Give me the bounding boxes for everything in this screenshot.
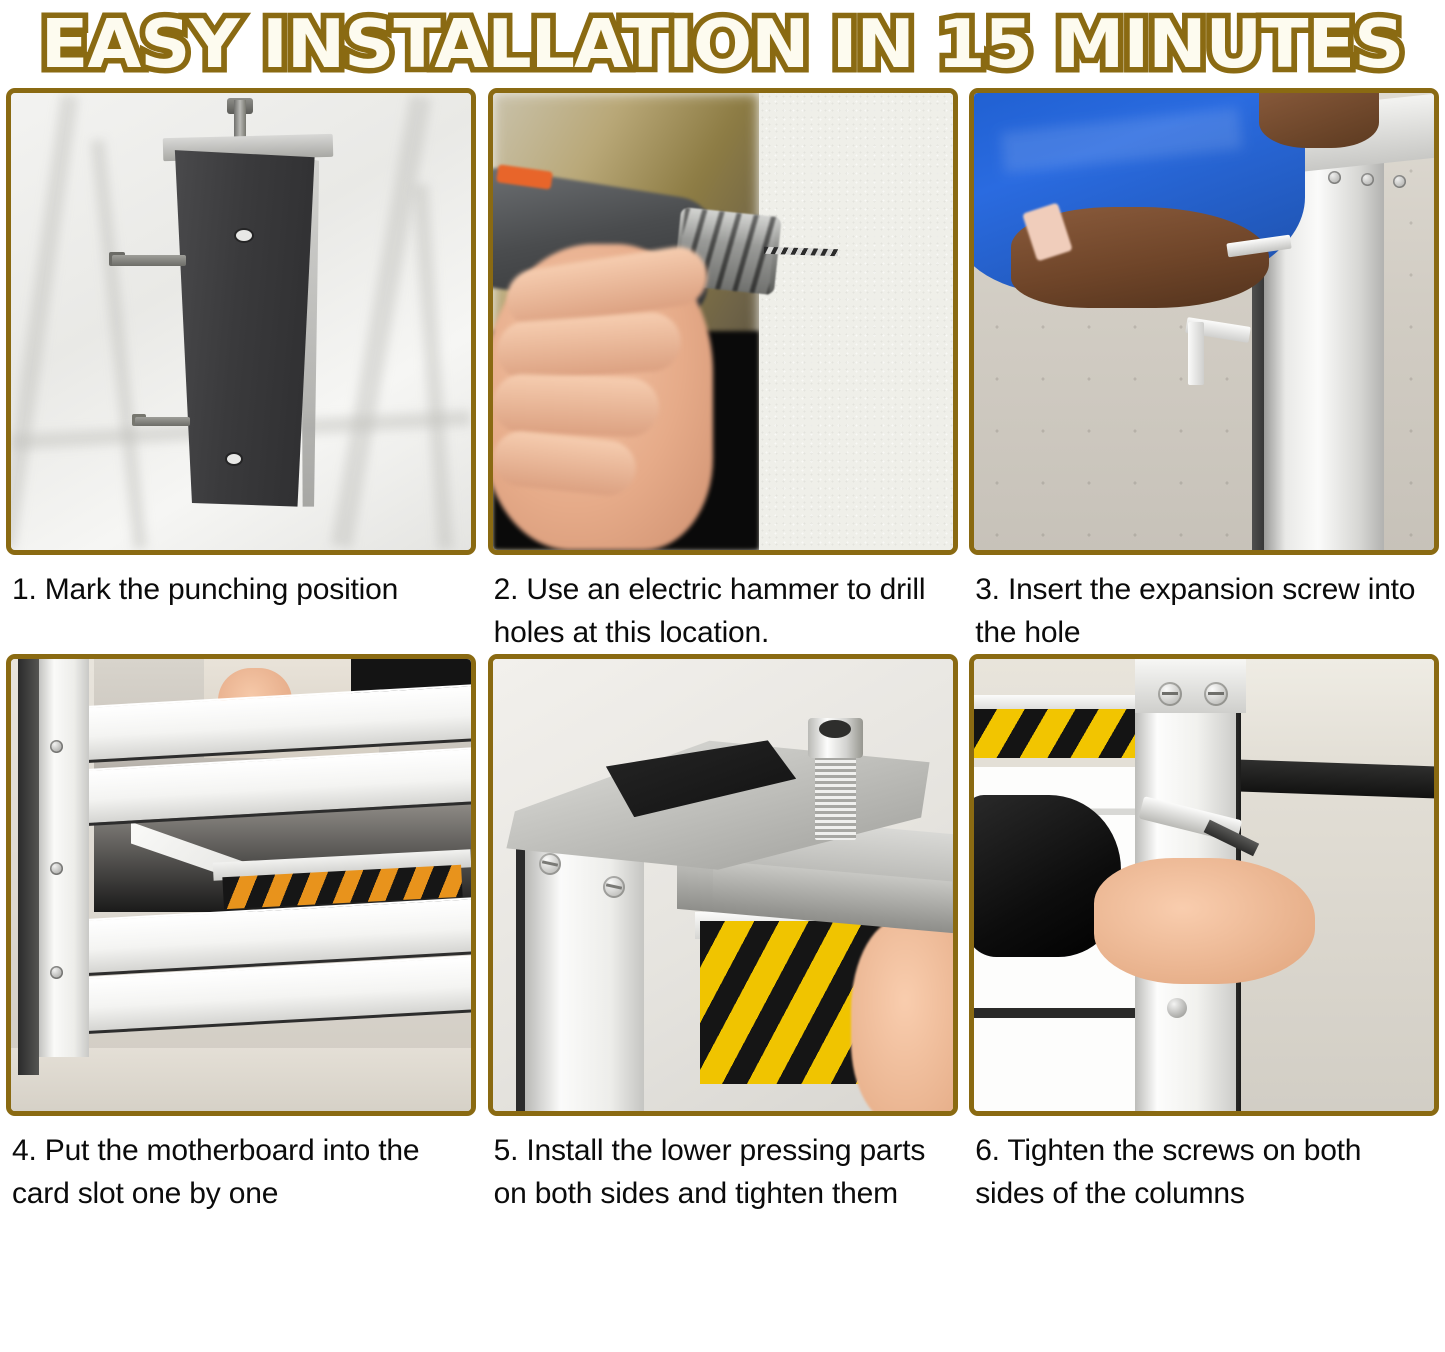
column-top-cap bbox=[1135, 659, 1245, 713]
hex-bolt-thread bbox=[815, 754, 856, 840]
step-photo-1 bbox=[11, 93, 471, 550]
step-photo-frame-1 bbox=[6, 88, 476, 555]
installation-steps-grid: 1. Mark the punching position bbox=[0, 88, 1445, 1215]
textured-wall bbox=[759, 93, 952, 550]
step-card-2: 2. Use an electric hammer to drill holes… bbox=[482, 88, 964, 654]
column-shadow-edge bbox=[18, 659, 39, 1075]
cloth-fold bbox=[412, 184, 453, 550]
screw bbox=[539, 853, 561, 875]
step-photo-3 bbox=[974, 93, 1434, 550]
threaded-rod bbox=[234, 100, 246, 141]
hazard-stripe-tape bbox=[974, 709, 1140, 759]
column-body bbox=[172, 150, 315, 506]
step-caption-5: 5. Install the lower pressing parts on b… bbox=[488, 1116, 958, 1215]
step-photo-frame-3 bbox=[969, 88, 1439, 555]
wall bbox=[1232, 659, 1434, 767]
bolt-shaft bbox=[112, 255, 186, 266]
screw bbox=[603, 876, 625, 898]
step-card-5: 5. Install the lower pressing parts on b… bbox=[482, 654, 964, 1215]
steps-row-top: 1. Mark the punching position bbox=[0, 88, 1445, 654]
column-channel bbox=[39, 659, 90, 1057]
step-photo-2 bbox=[493, 93, 953, 550]
step-card-3: 3. Insert the expansion screw into the h… bbox=[963, 88, 1445, 654]
page-title: EASY INSTALLATION IN 15 MINUTES bbox=[41, 9, 1403, 79]
bolt-shaft bbox=[135, 417, 190, 426]
screw bbox=[1361, 173, 1374, 186]
screw bbox=[1204, 682, 1228, 706]
hand bbox=[851, 917, 952, 1111]
screw bbox=[1158, 682, 1182, 706]
step-photo-frame-5 bbox=[488, 654, 958, 1116]
allen-key-arm bbox=[1188, 322, 1204, 386]
step-card-4: 4. Put the motherboard into the card slo… bbox=[0, 654, 482, 1215]
steps-row-bottom: 4. Put the motherboard into the card slo… bbox=[0, 654, 1445, 1215]
cloth-fold bbox=[330, 95, 431, 549]
hand bbox=[1094, 858, 1315, 985]
step-caption-6: 6. Tighten the screws on both sides of t… bbox=[969, 1116, 1439, 1215]
step-photo-frame-2 bbox=[488, 88, 958, 555]
step-caption-4: 4. Put the motherboard into the card slo… bbox=[6, 1116, 476, 1215]
step-photo-frame-4 bbox=[6, 654, 476, 1116]
step-photo-4 bbox=[11, 659, 471, 1111]
step-caption-1: 1. Mark the punching position bbox=[6, 555, 476, 611]
screw bbox=[1328, 171, 1341, 184]
hand bbox=[1259, 93, 1379, 148]
step-photo-6 bbox=[974, 659, 1434, 1111]
cloth-fold bbox=[91, 139, 148, 550]
cloth-fold bbox=[11, 94, 79, 549]
step-photo-frame-6 bbox=[969, 654, 1439, 1116]
step-card-6: 6. Tighten the screws on both sides of t… bbox=[963, 654, 1445, 1215]
page-header: EASY INSTALLATION IN 15 MINUTES bbox=[0, 0, 1445, 88]
step-caption-2: 2. Use an electric hammer to drill holes… bbox=[488, 555, 958, 654]
finger bbox=[493, 373, 660, 438]
floor bbox=[11, 1048, 471, 1111]
step-caption-3: 3. Insert the expansion screw into the h… bbox=[969, 555, 1439, 654]
step-card-1: 1. Mark the punching position bbox=[0, 88, 482, 654]
step-photo-5 bbox=[493, 659, 953, 1111]
screw bbox=[1393, 175, 1406, 188]
